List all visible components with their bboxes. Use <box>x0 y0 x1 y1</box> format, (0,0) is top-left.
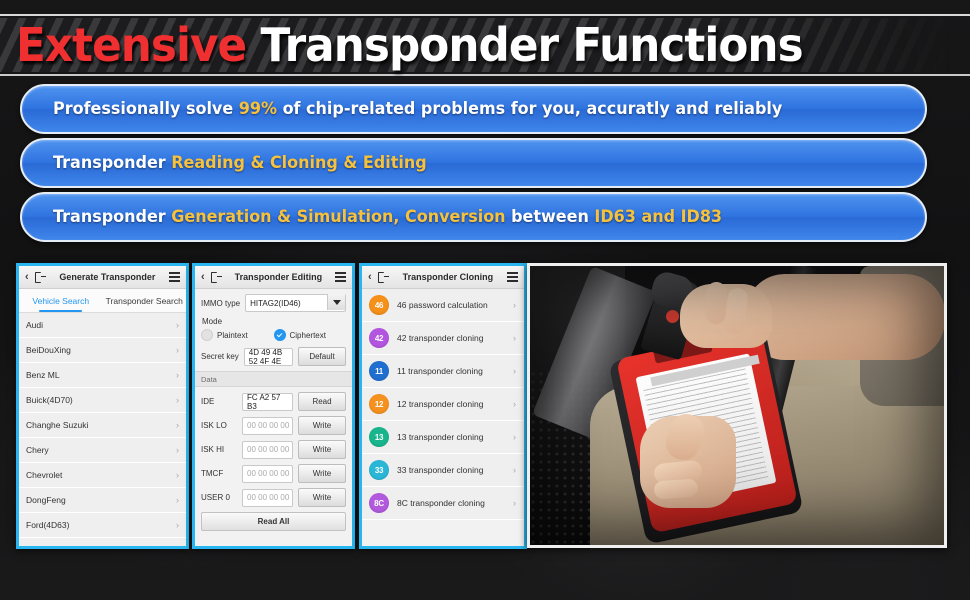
tab-transponder-search-label: Transponder Search <box>106 296 183 306</box>
feature-banner-2-text: Transponder Reading & Cloning & Editing <box>22 153 427 173</box>
chevron-right-icon: › <box>513 399 516 409</box>
data-row-isk-hi: ISK HI 00 00 00 00 Write <box>201 440 346 459</box>
chevron-right-icon: › <box>176 345 179 355</box>
banner-3-seg-4: ID63 and ID83 <box>594 207 722 227</box>
banner-3-seg-2: Generation & Simulation, Conversion <box>171 207 511 227</box>
data-label: TMCF <box>201 469 237 478</box>
feature-banner-2: Transponder Reading & Cloning & Editing <box>20 138 927 188</box>
data-input[interactable]: FC A2 57 B3 <box>242 393 293 411</box>
data-input[interactable]: 00 00 00 00 <box>242 441 293 459</box>
back-chevron-icon[interactable]: ‹ <box>25 272 29 283</box>
read-all-button[interactable]: Read All <box>201 512 346 531</box>
chevron-right-icon: › <box>176 545 179 549</box>
screen-1-tabs: Vehicle Search Transponder Search <box>19 289 186 313</box>
vehicle-list: Audi› BeiDouXing› Benz ML› Buick(4D70)› … <box>19 313 186 549</box>
menu-icon[interactable] <box>169 272 180 282</box>
write-button[interactable]: Write <box>298 416 346 435</box>
back-chevron-icon[interactable]: ‹ <box>201 272 205 283</box>
list-item[interactable]: Benz ML› <box>19 363 186 388</box>
chevron-right-icon: › <box>176 395 179 405</box>
banner-3-seg-3: between <box>511 207 594 227</box>
tab-vehicle-search-label: Vehicle Search <box>32 296 89 306</box>
screen-1-header: ‹ Generate Transponder <box>19 266 186 289</box>
screen-3-title: Transponder Cloning <box>395 272 501 282</box>
page-title-emphasis: Extensive <box>16 18 246 72</box>
data-label: ISK HI <box>201 445 237 454</box>
feature-banner-3: Transponder Generation & Simulation, Con… <box>20 192 927 242</box>
screen-3-header: ‹ Transponder Cloning <box>362 266 524 289</box>
product-photo-scene <box>530 266 944 545</box>
page-title-rest: Transponder Functions <box>261 18 803 72</box>
list-item[interactable]: 13 13 transponder cloning › <box>362 421 524 454</box>
page-title: Extensive Transponder Functions <box>16 18 803 72</box>
banner-1-seg-3: of chip-related problems for you, accura… <box>277 99 782 119</box>
data-row-ide: IDE FC A2 57 B3 Read <box>201 392 346 411</box>
chevron-right-icon: › <box>176 520 179 530</box>
screen-1-title: Generate Transponder <box>52 272 163 282</box>
chevron-right-icon: › <box>176 320 179 330</box>
data-label: USER 0 <box>201 493 237 502</box>
write-button[interactable]: Write <box>298 440 346 459</box>
data-row-tmcf: TMCF 00 00 00 00 Write <box>201 464 346 483</box>
radio-ciphertext-label: Ciphertext <box>290 331 326 340</box>
chip-badge-icon: 46 <box>369 295 389 315</box>
mode-radio-group: Plaintext Ciphertext <box>201 329 346 341</box>
chevron-right-icon: › <box>176 370 179 380</box>
feature-banner-3-text: Transponder Generation & Simulation, Con… <box>22 207 722 227</box>
chip-badge-icon: 42 <box>369 328 389 348</box>
banner-1-seg-2: 99% <box>239 99 277 119</box>
list-item-label: Changhe Suzuki <box>26 420 88 430</box>
write-button[interactable]: Write <box>298 488 346 507</box>
title-band: Extensive Transponder Functions <box>0 14 970 76</box>
cloning-list: 46 46 password calculation › 42 42 trans… <box>362 289 524 520</box>
immo-type-label: IMMO type <box>201 299 240 308</box>
chevron-right-icon: › <box>513 366 516 376</box>
list-item-label: 8C transponder cloning <box>397 498 485 508</box>
data-label: ISK LO <box>201 421 237 430</box>
immo-type-select[interactable]: HITAG2(ID46) <box>245 294 346 312</box>
data-input[interactable]: 00 00 00 00 <box>242 489 293 507</box>
list-item[interactable]: 46 46 password calculation › <box>362 289 524 322</box>
list-item-label: Chevrolet <box>26 470 62 480</box>
radio-checked-icon <box>274 329 286 341</box>
tab-vehicle-search[interactable]: Vehicle Search <box>19 289 103 312</box>
list-item-label: DongFeng <box>26 495 66 505</box>
list-item[interactable]: 33 33 transponder cloning › <box>362 454 524 487</box>
chevron-right-icon: › <box>513 333 516 343</box>
list-item[interactable]: Buick(4D70)› <box>19 388 186 413</box>
list-item-label: 11 transponder cloning <box>397 366 483 376</box>
list-item[interactable]: 12 12 transponder cloning › <box>362 388 524 421</box>
list-item[interactable]: Chevrolet› <box>19 463 186 488</box>
secret-key-row: Secret key 4D 49 4B 52 4F 4E Default <box>201 347 346 366</box>
list-item[interactable]: Audi› <box>19 313 186 338</box>
chevron-right-icon: › <box>176 420 179 430</box>
data-value: FC A2 57 B3 <box>247 393 292 411</box>
list-item[interactable]: Changhe Suzuki› <box>19 413 186 438</box>
list-item-label: Ford(4D63) <box>26 520 69 530</box>
screen-2-title: Transponder Editing <box>228 272 329 282</box>
chevron-right-icon: › <box>176 495 179 505</box>
chip-badge-icon: 33 <box>369 460 389 480</box>
list-item[interactable]: Chery› <box>19 438 186 463</box>
editing-form: IMMO type HITAG2(ID46) Mode Plaintext Ci… <box>195 289 352 547</box>
data-label: IDE <box>201 397 237 406</box>
banner-2-seg-2: Reading & Cloning & Editing <box>171 153 426 173</box>
list-item[interactable]: Ford(4D63)› <box>19 513 186 538</box>
list-item-label: 12 transponder cloning <box>397 399 483 409</box>
chevron-right-icon: › <box>176 445 179 455</box>
immo-type-value: HITAG2(ID46) <box>250 299 301 308</box>
chip-badge-icon: 13 <box>369 427 389 447</box>
list-item-label: 46 password calculation <box>397 300 488 310</box>
exit-icon[interactable] <box>378 272 389 283</box>
list-item-label: 33 transponder cloning <box>397 465 483 475</box>
back-chevron-icon[interactable]: ‹ <box>368 272 372 283</box>
list-item-label: 42 transponder cloning <box>397 333 483 343</box>
mode-label: Mode <box>202 317 346 326</box>
screen-2-header: ‹ Transponder Editing <box>195 266 352 289</box>
chip-badge-icon: 12 <box>369 394 389 414</box>
radio-ciphertext[interactable]: Ciphertext <box>274 329 326 341</box>
chip-badge-icon: 11 <box>369 361 389 381</box>
list-item[interactable]: 11 11 transponder cloning › <box>362 355 524 388</box>
secret-key-input[interactable]: 4D 49 4B 52 4F 4E <box>244 348 293 366</box>
feature-banner-1: Professionally solve 99% of chip-related… <box>20 84 927 134</box>
exit-icon[interactable] <box>35 272 46 283</box>
banner-1-seg-1: Professionally solve <box>53 99 239 119</box>
read-button[interactable]: Read <box>298 392 346 411</box>
photo-vignette <box>530 266 944 545</box>
data-input[interactable]: 00 00 00 00 <box>242 417 293 435</box>
list-item-label: Buick(4D70) <box>26 395 73 405</box>
data-row-isk-lo: ISK LO 00 00 00 00 Write <box>201 416 346 435</box>
radio-plaintext-label: Plaintext <box>217 331 248 340</box>
menu-icon[interactable] <box>335 272 346 282</box>
list-item-label: Ford(4D83) <box>26 545 69 549</box>
chevron-right-icon: › <box>513 498 516 508</box>
data-section-label: Data <box>195 371 352 387</box>
chevron-right-icon: › <box>176 470 179 480</box>
banner-2-seg-1: Transponder <box>53 153 171 173</box>
title-rule-top <box>0 14 970 16</box>
chevron-down-icon[interactable] <box>327 294 345 310</box>
chevron-right-icon: › <box>513 432 516 442</box>
list-item-label: Chery <box>26 445 49 455</box>
data-value: 00 00 00 00 <box>247 421 289 430</box>
data-value: 00 00 00 00 <box>247 469 289 478</box>
list-item-label: Benz ML <box>26 370 60 380</box>
data-value: 00 00 00 00 <box>247 445 289 454</box>
product-photo <box>527 263 947 548</box>
chevron-right-icon: › <box>513 465 516 475</box>
screen-transponder-editing: ‹ Transponder Editing IMMO type HITAG2(I… <box>192 263 355 549</box>
data-value: 00 00 00 00 <box>247 493 289 502</box>
secret-key-label: Secret key <box>201 352 239 361</box>
data-input[interactable]: 00 00 00 00 <box>242 465 293 483</box>
immo-type-row: IMMO type HITAG2(ID46) <box>201 294 346 312</box>
write-button[interactable]: Write <box>298 464 346 483</box>
list-item[interactable]: BeiDouXing› <box>19 338 186 363</box>
list-item-label: Audi <box>26 320 43 330</box>
banner-3-seg-1: Transponder <box>53 207 171 227</box>
list-item-label: BeiDouXing <box>26 345 71 355</box>
screen-transponder-cloning: ‹ Transponder Cloning 46 46 password cal… <box>359 263 527 549</box>
tab-transponder-search[interactable]: Transponder Search <box>103 289 187 312</box>
exit-icon[interactable] <box>211 272 222 283</box>
default-button[interactable]: Default <box>298 347 346 366</box>
list-item-label: 13 transponder cloning <box>397 432 483 442</box>
list-item[interactable]: 42 42 transponder cloning › <box>362 322 524 355</box>
list-item[interactable]: 8C 8C transponder cloning › <box>362 487 524 520</box>
list-item[interactable]: DongFeng› <box>19 488 186 513</box>
radio-unchecked-icon <box>201 329 213 341</box>
screen-generate-transponder: ‹ Generate Transponder Vehicle Search Tr… <box>16 263 189 549</box>
chip-badge-icon: 8C <box>369 493 389 513</box>
secret-key-value: 4D 49 4B 52 4F 4E <box>249 348 292 366</box>
data-row-user-0: USER 0 00 00 00 00 Write <box>201 488 346 507</box>
list-item[interactable]: Ford(4D83)› <box>19 538 186 549</box>
menu-icon[interactable] <box>507 272 518 282</box>
chevron-right-icon: › <box>513 300 516 310</box>
title-rule-bottom <box>0 74 970 76</box>
feature-banner-1-text: Professionally solve 99% of chip-related… <box>22 99 782 119</box>
radio-plaintext[interactable]: Plaintext <box>201 329 274 341</box>
